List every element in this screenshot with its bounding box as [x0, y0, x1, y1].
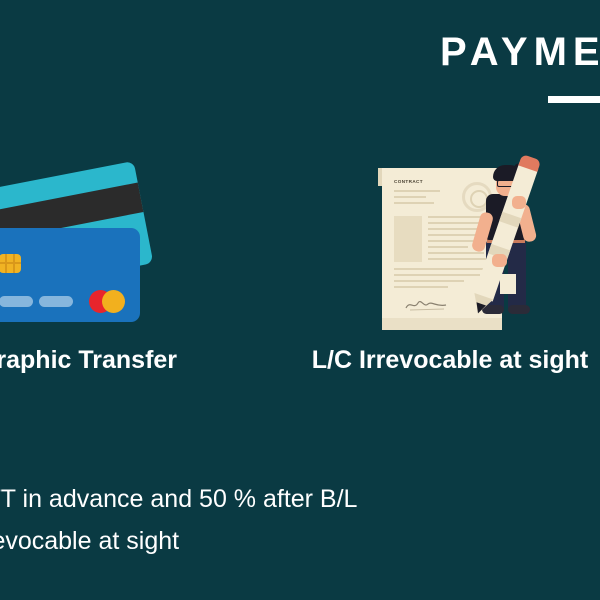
- cards-group: [0, 150, 205, 345]
- document-text-line: [394, 268, 488, 270]
- contract-signing-illustration: CONTRACT: [300, 150, 600, 345]
- paper-corner-behind-pencil: [500, 274, 516, 294]
- document-text-line: [394, 196, 426, 198]
- payment-option-label-lc-irrevocable: L/C Irrevocable at sight: [300, 346, 600, 375]
- card-number-bar: [39, 296, 73, 307]
- pencil-eraser: [518, 154, 541, 172]
- title-underline-rule: [548, 96, 600, 103]
- card-number-bar: [0, 296, 33, 307]
- person-hand-lower: [492, 254, 507, 267]
- document-text-line: [394, 202, 434, 204]
- pencil-band: [499, 212, 521, 228]
- signature-mark: [404, 296, 448, 312]
- body-line-1: 50 % TT in advance and 50 % after B/L: [0, 478, 482, 520]
- contract-group: CONTRACT: [300, 150, 600, 345]
- payment-terms-slide: PAYMENT Telegraphic Tran: [0, 0, 600, 600]
- document-text-line: [394, 286, 448, 288]
- body-line-2: L/C Irrevocable at sight: [0, 520, 482, 562]
- chip-icon: [0, 254, 21, 273]
- payment-option-telegraphic-transfer: Telegraphic Transfer: [0, 150, 205, 390]
- document-text-line: [428, 246, 468, 248]
- document-text-line: [394, 274, 480, 276]
- document-text-line: [428, 234, 476, 236]
- payment-option-lc-irrevocable: CONTRACT: [300, 150, 600, 390]
- mastercard-orange-circle-icon: [102, 290, 125, 313]
- contract-heading: CONTRACT: [394, 179, 423, 184]
- page-title: PAYMENT: [440, 28, 600, 76]
- person-shoe-right: [508, 305, 530, 314]
- document-text-block: [394, 216, 422, 262]
- title-block: PAYMENT: [440, 28, 600, 76]
- document-footer-band: [382, 318, 502, 330]
- document-text-line: [394, 280, 464, 282]
- document-text-line: [428, 258, 490, 260]
- chip-contact-line: [0, 262, 21, 264]
- payment-option-label-telegraphic-transfer: Telegraphic Transfer: [0, 346, 205, 375]
- credit-cards-illustration: [0, 150, 205, 345]
- person-hand-upper: [512, 196, 526, 209]
- credit-card-front: [0, 228, 140, 322]
- document-text-line: [394, 190, 440, 192]
- payment-terms-body: 50 % TT in advance and 50 % after B/L L/…: [0, 478, 482, 562]
- document-text-line: [428, 252, 484, 254]
